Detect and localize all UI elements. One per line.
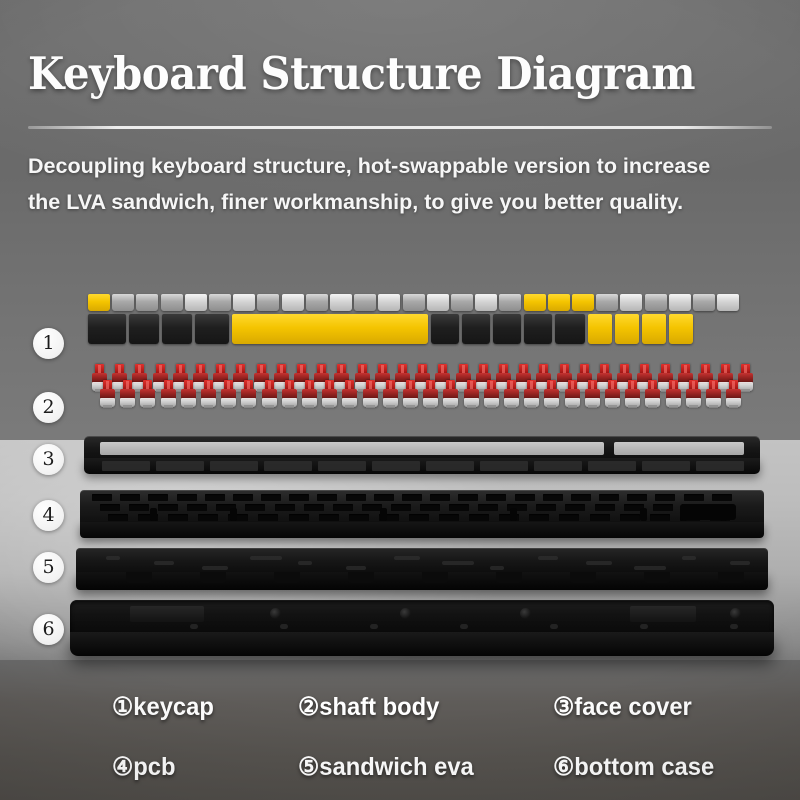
pcb-switch-cutout xyxy=(148,494,168,501)
pcb-switch-cutout xyxy=(430,494,450,501)
switch-cross-stem xyxy=(348,381,351,389)
pcb-switch-cutout xyxy=(120,494,140,501)
switch-cross-stem xyxy=(409,381,412,389)
keycap-front xyxy=(88,314,126,344)
switch-pin xyxy=(628,405,637,408)
case-drain-hole xyxy=(190,624,198,629)
switch-cross-stem xyxy=(490,381,493,389)
pcb-switch-cutout xyxy=(409,514,429,521)
keycap-back xyxy=(475,294,497,311)
face-cover-window-right xyxy=(614,442,744,455)
pcb-switch-cutout xyxy=(349,514,369,521)
case-drain-hole xyxy=(550,624,558,629)
pcb-switch-cutout xyxy=(391,504,411,511)
keycap-back xyxy=(427,294,449,311)
switch-pin xyxy=(366,405,375,408)
keycap-back xyxy=(136,294,158,311)
switch-cross-stem xyxy=(611,381,614,389)
pcb-switch-cutout xyxy=(620,514,640,521)
keycap-front xyxy=(195,314,229,344)
keycap-back xyxy=(306,294,328,311)
pcb-switch-cutout xyxy=(559,514,579,521)
switch-cross-stem xyxy=(502,365,505,373)
eva-front-tab xyxy=(126,572,152,583)
pcb-switch-cutout xyxy=(684,494,704,501)
pcb-switch-cutout xyxy=(333,504,353,511)
pcb-switch-cutout xyxy=(565,504,585,511)
switch-pin xyxy=(527,405,536,408)
page-subtitle: Decoupling keyboard structure, hot-swapp… xyxy=(28,148,738,220)
pcb-switch-cutout xyxy=(486,494,506,501)
switch-cross-stem xyxy=(268,381,271,389)
eva-top xyxy=(76,548,768,574)
pcb-switch-cutout xyxy=(319,514,339,521)
callout-badge-2: 2 xyxy=(33,392,64,423)
switch-pin xyxy=(184,405,193,408)
face-cover-front-segment xyxy=(642,461,690,471)
switch-cross-stem xyxy=(651,381,654,389)
pcb-switch-cutout xyxy=(449,504,469,511)
switch-cross-stem xyxy=(712,381,715,389)
switch-cross-stem xyxy=(462,365,465,373)
pcb-switch-cutout xyxy=(712,494,732,501)
pcb-switch-cutout xyxy=(653,504,673,511)
eva-surface-mark xyxy=(586,561,612,565)
switch-cross-stem xyxy=(288,381,291,389)
switch-pin xyxy=(426,405,435,408)
face-cover-front-segment xyxy=(156,461,204,471)
pcb-switch-cutout xyxy=(627,494,647,501)
layer-sandwich-eva xyxy=(76,548,768,596)
face-cover-front-segment xyxy=(372,461,420,471)
switch-cross-stem xyxy=(421,365,424,373)
eva-front-tab xyxy=(274,572,300,583)
eva-front-tab xyxy=(496,572,522,583)
eva-surface-mark xyxy=(490,566,504,570)
switch-cross-stem xyxy=(692,381,695,389)
switch-cross-stem xyxy=(126,381,129,389)
layer-bottom-case xyxy=(70,600,774,662)
eva-surface-mark xyxy=(442,561,474,565)
switch-cross-stem xyxy=(247,381,250,389)
keyboard-structure-diagram: Keyboard Structure Diagram Decoupling ke… xyxy=(0,0,800,800)
switch-pin xyxy=(386,405,395,408)
page-title: Keyboard Structure Diagram xyxy=(28,48,720,100)
switch-cross-stem xyxy=(732,381,735,389)
keycap-back xyxy=(233,294,255,311)
switch-cross-stem xyxy=(361,365,364,373)
eva-surface-mark xyxy=(202,566,228,570)
switch-cross-stem xyxy=(672,381,675,389)
pcb-stabilizer-post xyxy=(150,508,157,521)
keycap-accent xyxy=(669,314,693,344)
switch-pin xyxy=(608,405,617,408)
eva-front-tab xyxy=(422,572,448,583)
pcb-switch-cutout xyxy=(317,494,337,501)
switch-cross-stem xyxy=(207,381,210,389)
keycap-back xyxy=(354,294,376,311)
keycap-front xyxy=(431,314,459,344)
keycap-front xyxy=(555,314,585,344)
switch-cross-stem xyxy=(227,381,230,389)
callout-badge-3: 3 xyxy=(33,444,64,475)
callout-badge-4: 4 xyxy=(33,500,64,531)
switch-pin xyxy=(669,405,678,408)
keycap-back xyxy=(257,294,279,311)
switch-cross-stem xyxy=(623,365,626,373)
case-drain-hole xyxy=(280,624,288,629)
case-drain-hole xyxy=(640,624,648,629)
callout-badge-6: 6 xyxy=(33,614,64,645)
switch-cross-stem xyxy=(684,365,687,373)
eva-surface-mark xyxy=(730,561,750,565)
case-drain-hole xyxy=(730,624,738,629)
keycap-back xyxy=(717,294,739,311)
keycap-back xyxy=(88,294,110,311)
pcb-stabilizer-post xyxy=(380,508,387,521)
switch-cross-stem xyxy=(449,381,452,389)
pcb-switch-cutout xyxy=(536,504,556,511)
switch-cross-stem xyxy=(542,365,545,373)
switch-pin xyxy=(265,405,274,408)
layer-switches xyxy=(88,364,756,424)
switch-cross-stem xyxy=(482,365,485,373)
pcb-switch-cutout xyxy=(458,494,478,501)
switch-cross-stem xyxy=(429,381,432,389)
keycap-accent xyxy=(588,314,612,344)
switch-pin xyxy=(305,405,314,408)
switch-pin xyxy=(224,405,233,408)
switch-cross-stem xyxy=(369,381,372,389)
pcb-switch-cutout xyxy=(92,494,112,501)
title-divider xyxy=(28,126,772,129)
keycap-back xyxy=(693,294,715,311)
switch-cross-stem xyxy=(603,365,606,373)
keycap-back xyxy=(572,294,594,311)
keycap-back xyxy=(282,294,304,311)
switch-cross-stem xyxy=(167,381,170,389)
switch-cross-stem xyxy=(643,365,646,373)
eva-front-tab xyxy=(570,572,596,583)
face-cover-front-segment xyxy=(696,461,744,471)
switch-pin xyxy=(588,405,597,408)
pcb-switch-cutout xyxy=(304,504,324,511)
keycap-front xyxy=(493,314,521,344)
pcb-switch-cutout xyxy=(233,494,253,501)
switch-cross-stem xyxy=(631,381,634,389)
switch-pin xyxy=(164,405,173,408)
keycap-front xyxy=(129,314,159,344)
face-cover-front-segment xyxy=(480,461,528,471)
eva-surface-mark xyxy=(394,556,420,560)
switch-cross-stem xyxy=(724,365,727,373)
switch-pin xyxy=(741,389,750,392)
face-cover-front-segment xyxy=(210,461,258,471)
switch-cross-stem xyxy=(98,365,101,373)
eva-front-tab xyxy=(348,572,374,583)
pcb-connector xyxy=(680,504,736,520)
switch-pin xyxy=(103,405,112,408)
switch-pin xyxy=(507,405,516,408)
pcb-switch-cutout xyxy=(650,514,670,521)
switch-cross-stem xyxy=(470,381,473,389)
pcb-front xyxy=(80,522,764,538)
keycap-back xyxy=(378,294,400,311)
pcb-switch-cutout xyxy=(275,504,295,511)
switch-cross-stem xyxy=(187,381,190,389)
switch-pin xyxy=(547,405,556,408)
pcb-switch-cutout xyxy=(198,514,218,521)
switch-pin xyxy=(568,405,577,408)
switch-cross-stem xyxy=(591,381,594,389)
switch-cross-stem xyxy=(328,381,331,389)
switch-pin xyxy=(487,405,496,408)
switch-cross-stem xyxy=(441,365,444,373)
switch-cross-stem xyxy=(522,365,525,373)
legend-item-sandwich-eva: ⑤sandwich eva xyxy=(298,752,474,782)
keycap-back xyxy=(596,294,618,311)
switch-cross-stem xyxy=(744,365,747,373)
layer-pcb xyxy=(80,490,764,544)
pcb-switch-cutout xyxy=(543,494,563,501)
switch-pin xyxy=(467,405,476,408)
switch-pin xyxy=(345,405,354,408)
keycap-front xyxy=(462,314,490,344)
pcb-switch-cutout xyxy=(529,514,549,521)
pcb-switch-cutout xyxy=(177,494,197,501)
face-cover-front-segment xyxy=(102,461,150,471)
switch-cross-stem xyxy=(159,365,162,373)
pcb-switch-cutout xyxy=(261,494,281,501)
eva-surface-mark xyxy=(106,556,120,560)
switch-pin xyxy=(729,405,738,408)
switch-cross-stem xyxy=(320,365,323,373)
pcb-switch-cutout xyxy=(289,494,309,501)
face-cover-front-segment xyxy=(318,461,366,471)
pcb-switch-cutout xyxy=(187,504,207,511)
switch-pin xyxy=(204,405,213,408)
keycap-accent xyxy=(642,314,666,344)
switch-cross-stem xyxy=(510,381,513,389)
case-screw-boss xyxy=(270,608,281,619)
bottom-case-front xyxy=(70,632,774,656)
switch-pin xyxy=(325,405,334,408)
switch-pin xyxy=(709,405,718,408)
switch-pin xyxy=(123,405,132,408)
switch-pin xyxy=(648,405,657,408)
pcb-switch-cutout xyxy=(108,514,128,521)
pcb-switch-cutout xyxy=(205,494,225,501)
eva-surface-mark xyxy=(250,556,282,560)
keycap-back xyxy=(499,294,521,311)
pcb-switch-cutout xyxy=(374,494,394,501)
pcb-switch-cutout xyxy=(129,504,149,511)
eva-front-tab xyxy=(718,572,744,583)
eva-front-tab xyxy=(200,572,226,583)
keycap-front xyxy=(524,314,552,344)
callout-badge-5: 5 xyxy=(33,552,64,583)
pcb-switch-cutout xyxy=(590,514,610,521)
keycap-back xyxy=(403,294,425,311)
legend-item-keycap: ①keycap xyxy=(112,692,214,722)
switch-cross-stem xyxy=(308,381,311,389)
switch-cross-stem xyxy=(260,365,263,373)
case-drain-hole xyxy=(370,624,378,629)
switch-cross-stem xyxy=(401,365,404,373)
keycap-back xyxy=(185,294,207,311)
pcb-stabilizer-post xyxy=(230,508,237,521)
keycap-front xyxy=(162,314,192,344)
switch-cross-stem xyxy=(138,365,141,373)
legend-item-pcb: ④pcb xyxy=(112,752,176,782)
pcb-switch-cutout xyxy=(289,514,309,521)
pcb-switch-cutout xyxy=(571,494,591,501)
switch-pin xyxy=(244,405,253,408)
keycap-back xyxy=(645,294,667,311)
pcb-switch-cutout xyxy=(158,504,178,511)
legend-item-face-cover: ③face cover xyxy=(553,692,692,722)
switch-cross-stem xyxy=(664,365,667,373)
keycap-accent xyxy=(615,314,639,344)
layer-face-cover xyxy=(84,436,760,482)
face-cover-front-segment xyxy=(588,461,636,471)
pcb-stabilizer-post xyxy=(510,508,517,521)
switch-pin xyxy=(689,405,698,408)
layer-keycaps xyxy=(88,292,756,350)
pcb-switch-cutout xyxy=(439,514,459,521)
switch-cross-stem xyxy=(340,365,343,373)
eva-surface-mark xyxy=(538,556,558,560)
pcb-switch-cutout xyxy=(420,504,440,511)
case-screw-boss xyxy=(520,608,531,619)
keycap-back xyxy=(524,294,546,311)
switch-cross-stem xyxy=(106,381,109,389)
keycap-back xyxy=(112,294,134,311)
pcb-stabilizer-post xyxy=(640,508,647,521)
switch-cross-stem xyxy=(704,365,707,373)
pcb-switch-cutout xyxy=(346,494,366,501)
eva-surface-mark xyxy=(346,566,366,570)
pcb-switch-cutout xyxy=(362,504,382,511)
case-screw-boss xyxy=(400,608,411,619)
pcb-switch-cutout xyxy=(599,494,619,501)
pcb-switch-cutout xyxy=(595,504,615,511)
pcb-switch-cutout xyxy=(258,514,278,521)
pcb-switch-cutout xyxy=(469,514,489,521)
switch-cross-stem xyxy=(381,365,384,373)
switch-cross-stem xyxy=(550,381,553,389)
eva-front-tab xyxy=(644,572,670,583)
eva-surface-mark xyxy=(298,561,312,565)
keycap-back xyxy=(451,294,473,311)
case-screw-boss xyxy=(730,608,741,619)
pcb-switch-cutout xyxy=(515,494,535,501)
switch-cross-stem xyxy=(530,381,533,389)
face-cover-front-segment xyxy=(426,461,474,471)
switch-cross-stem xyxy=(118,365,121,373)
switch-pin xyxy=(446,405,455,408)
legend-item-bottom-case: ⑥bottom case xyxy=(553,752,714,782)
keycap-back xyxy=(620,294,642,311)
eva-surface-mark xyxy=(634,566,666,570)
face-cover-front-segment xyxy=(534,461,582,471)
keycap-back xyxy=(161,294,183,311)
switch-cross-stem xyxy=(583,365,586,373)
switch-cross-stem xyxy=(199,365,202,373)
face-cover-window-left xyxy=(100,442,604,455)
switch-cross-stem xyxy=(146,381,149,389)
pcb-switch-cutout xyxy=(402,494,422,501)
switch-cross-stem xyxy=(219,365,222,373)
switch-cross-stem xyxy=(239,365,242,373)
switch-pin xyxy=(406,405,415,408)
keycap-back xyxy=(669,294,691,311)
keycap-back xyxy=(548,294,570,311)
keycap-accent xyxy=(232,314,428,344)
pcb-switch-cutout xyxy=(655,494,675,501)
switch-cross-stem xyxy=(563,365,566,373)
case-weight-pad xyxy=(630,606,696,622)
switch-pin xyxy=(285,405,294,408)
eva-surface-mark xyxy=(154,561,174,565)
legend-item-shaft-body: ②shaft body xyxy=(298,692,439,722)
switch-cross-stem xyxy=(571,381,574,389)
callout-badge-1: 1 xyxy=(33,328,64,359)
pcb-switch-cutout xyxy=(100,504,120,511)
pcb-switch-cutout xyxy=(245,504,265,511)
switch-cross-stem xyxy=(300,365,303,373)
switch-cross-stem xyxy=(280,365,283,373)
keycap-back xyxy=(330,294,352,311)
eva-surface-mark xyxy=(682,556,696,560)
case-drain-hole xyxy=(460,624,468,629)
switch-cross-stem xyxy=(179,365,182,373)
pcb-switch-cutout xyxy=(168,514,188,521)
keycap-back xyxy=(209,294,231,311)
face-cover-front-segment xyxy=(264,461,312,471)
switch-pin xyxy=(143,405,152,408)
switch-cross-stem xyxy=(389,381,392,389)
case-weight-pad xyxy=(130,606,204,622)
pcb-switch-cutout xyxy=(478,504,498,511)
